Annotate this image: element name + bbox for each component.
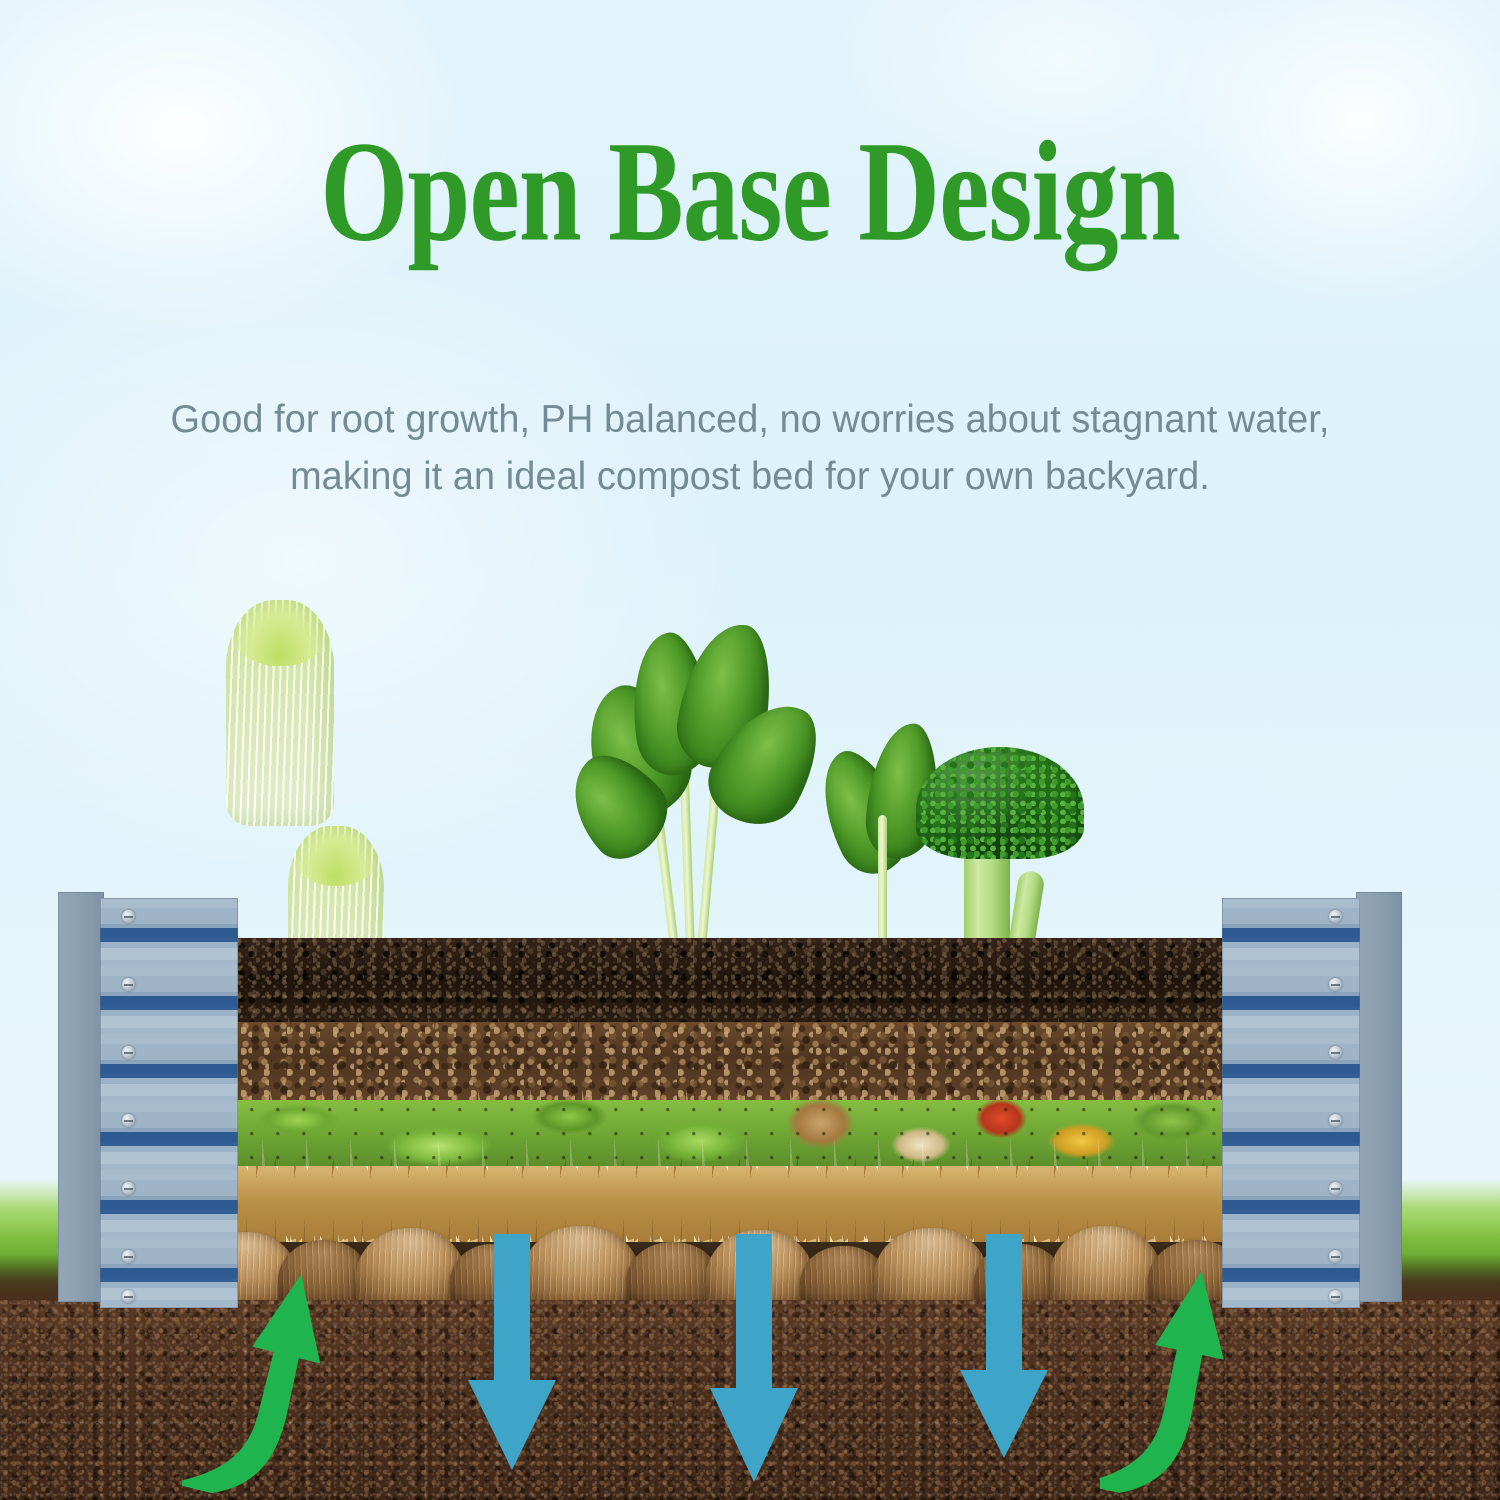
infographic-canvas: Open Base Design Good for root growth, P… — [0, 0, 1500, 1500]
steel-side-panel-right[interactable] — [1222, 898, 1402, 1308]
panel-left-corrugated-face — [100, 898, 238, 1308]
panel-left-edge-post — [58, 892, 104, 1302]
panel-screw — [122, 1290, 135, 1303]
panel-screw — [122, 910, 135, 923]
layer-straw — [218, 1166, 1222, 1242]
subtitle-line-2: making it an ideal compost bed for your … — [81, 449, 1420, 506]
plant-napa-cabbage-1 — [226, 600, 334, 826]
layer-mulch-compost — [218, 1022, 1222, 1100]
plant-swiss-chard — [570, 645, 800, 945]
airflow-arrow-up-right — [1100, 1262, 1250, 1500]
subtitle-line-1: Good for root growth, PH balanced, no wo… — [81, 392, 1420, 449]
broccoli-stalk-branch — [1008, 869, 1045, 946]
steel-side-panel-left[interactable] — [58, 898, 238, 1308]
panel-right-corrugated-face — [1222, 898, 1360, 1308]
panel-screw — [122, 1046, 135, 1059]
panel-screw — [1329, 1290, 1342, 1303]
panel-screw — [122, 1182, 135, 1195]
layer-kitchen-scraps — [218, 1100, 1222, 1166]
panel-screw — [1329, 1114, 1342, 1127]
drainage-arrow-down-3 — [956, 1234, 1052, 1462]
broccoli-floret-head — [916, 747, 1084, 859]
vegetable-row — [0, 600, 1500, 945]
layer-topsoil — [218, 938, 1222, 1022]
panel-screw — [122, 1250, 135, 1263]
panel-screw — [1329, 910, 1342, 923]
airflow-arrow-up-left — [182, 1262, 342, 1500]
drainage-arrow-down-2 — [706, 1234, 802, 1486]
panel-screw — [122, 978, 135, 991]
chard-stem-4 — [878, 815, 887, 945]
panel-screw — [1329, 1046, 1342, 1059]
page-subtitle: Good for root growth, PH balanced, no wo… — [81, 392, 1420, 505]
panel-screw — [122, 1114, 135, 1127]
plant-broccoli — [910, 735, 1100, 945]
page-title: Open Base Design — [30, 120, 1470, 264]
drainage-arrow-down-1 — [464, 1234, 560, 1474]
panel-screw — [1329, 978, 1342, 991]
panel-right-edge-post — [1356, 892, 1402, 1302]
panel-screw — [1329, 1182, 1342, 1195]
panel-screw — [1329, 1250, 1342, 1263]
